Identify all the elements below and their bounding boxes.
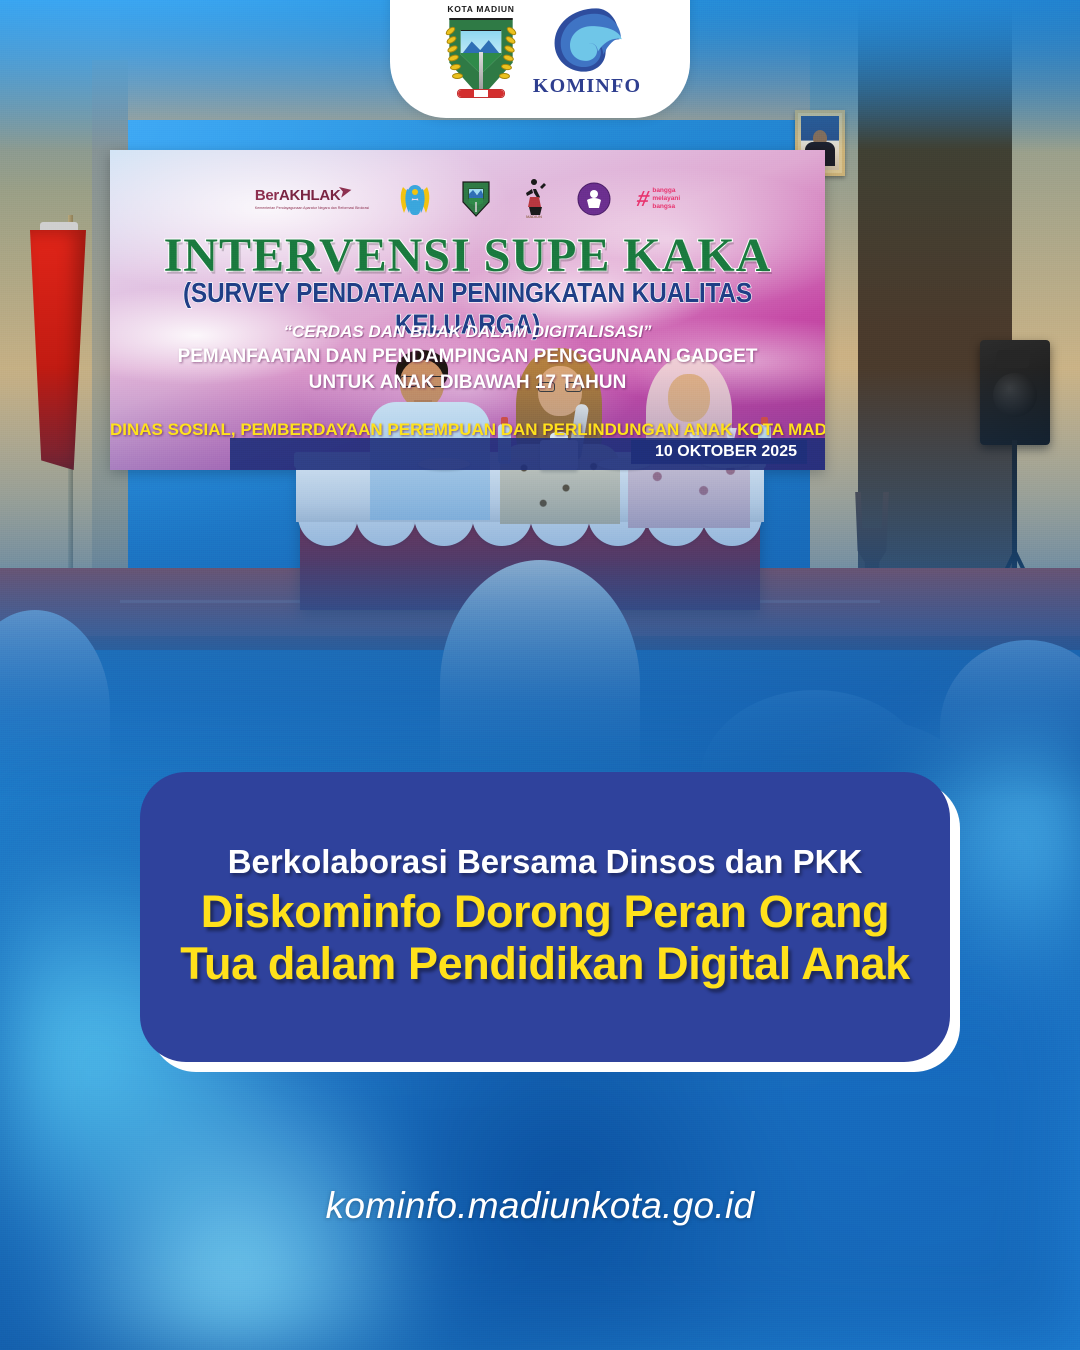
poster-canvas: BerAKHLAK➤ Kementerian Pendayagunaan Apa… (0, 0, 1080, 1350)
emblem-rice-right (501, 26, 517, 84)
kominfo-wave-logo-icon: KOMINFO (533, 6, 641, 102)
kominfo-wordmark: KOMINFO (533, 75, 641, 98)
logo-notch: KOTA MADIUN (390, 0, 690, 118)
title-card-headline: Diskominfo Dorong Peran Orang Tua dalam … (174, 886, 916, 990)
emblem-keris (479, 52, 483, 92)
emblem-caption: KOTA MADIUN (447, 4, 514, 14)
emblem-rice-left (445, 26, 461, 84)
title-card: Berkolaborasi Bersama Dinsos dan PKK Dis… (140, 772, 950, 1062)
logo-group: KOTA MADIUN (439, 4, 641, 104)
website-url[interactable]: kominfo.madiunkota.go.id (0, 1185, 1080, 1227)
title-card-kicker: Berkolaborasi Bersama Dinsos dan PKK (228, 843, 863, 882)
kota-madiun-coat-of-arms-icon: KOTA MADIUN (439, 4, 523, 104)
poster-grain-texture (0, 0, 1080, 1350)
emblem-ribbon (457, 89, 505, 98)
